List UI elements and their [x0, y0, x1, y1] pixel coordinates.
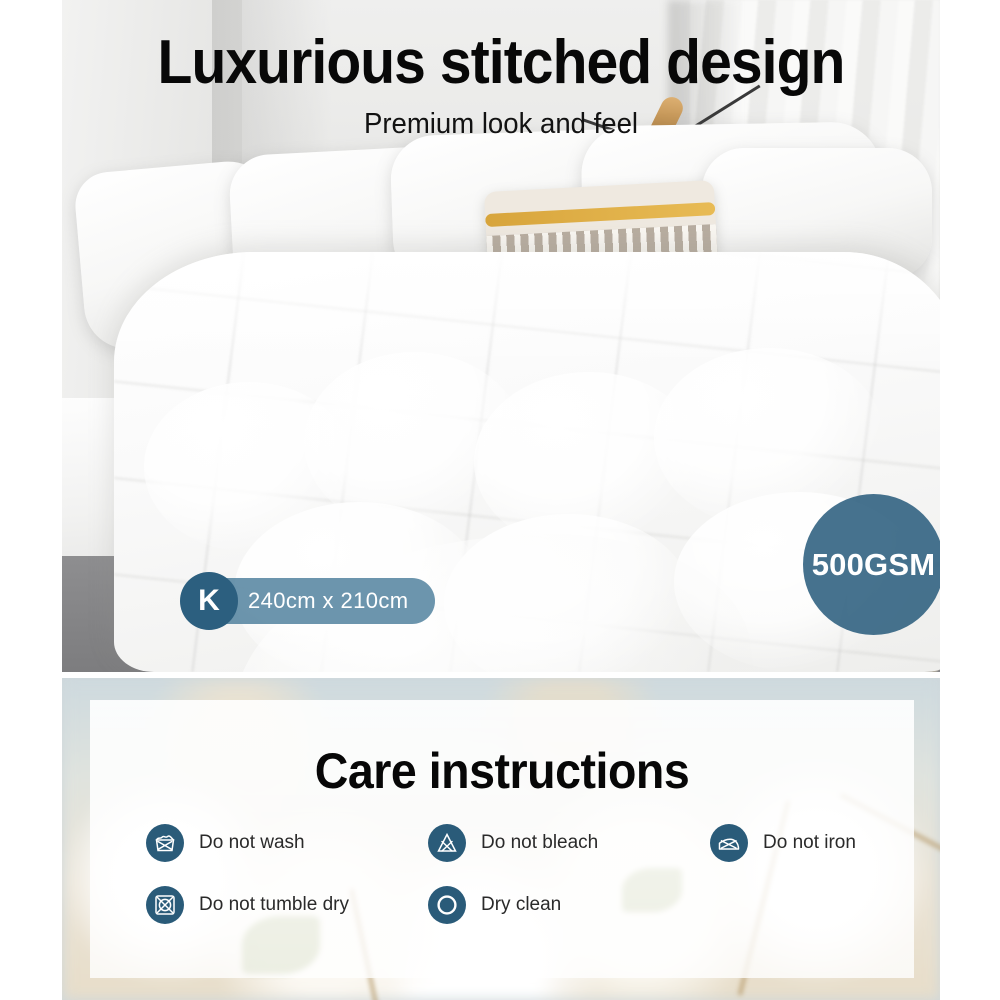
care-panel: Care instructions Do not wash	[62, 678, 940, 1000]
care-row: Do not wash Do not bleach	[146, 824, 902, 862]
care-title: Care instructions	[119, 746, 885, 796]
do-not-bleach-icon	[428, 824, 466, 862]
size-dimensions-label: 240cm x 210cm	[248, 588, 409, 614]
do-not-tumble-dry-icon	[146, 886, 184, 924]
page-title: Luxurious stitched design	[97, 32, 905, 94]
care-label: Dry clean	[481, 894, 561, 916]
product-marketing-image: Luxurious stitched design Premium look a…	[0, 0, 1000, 1000]
care-item-do-not-wash: Do not wash	[146, 824, 428, 862]
page-subtitle: Premium look and feel	[84, 108, 918, 141]
care-instructions-grid: Do not wash Do not bleach	[146, 824, 902, 948]
care-label: Do not bleach	[481, 832, 598, 854]
size-letter-badge: K	[180, 572, 238, 630]
hero-panel: Luxurious stitched design Premium look a…	[62, 0, 940, 672]
care-label: Do not iron	[763, 832, 856, 854]
gsm-badge: 500GSM	[803, 494, 940, 635]
care-item-do-not-iron: Do not iron	[710, 824, 900, 862]
care-item-do-not-tumble-dry: Do not tumble dry	[146, 886, 428, 924]
duvet-top-edge	[114, 252, 940, 372]
dry-clean-icon	[428, 886, 466, 924]
care-item-dry-clean: Dry clean	[428, 886, 710, 924]
do-not-iron-icon	[710, 824, 748, 862]
do-not-wash-icon	[146, 824, 184, 862]
care-card: Care instructions Do not wash	[90, 700, 914, 978]
cushion-gold-band	[485, 202, 715, 227]
care-label: Do not tumble dry	[199, 894, 349, 916]
care-row: Do not tumble dry Dry clean	[146, 886, 902, 924]
care-item-do-not-bleach: Do not bleach	[428, 824, 710, 862]
care-label: Do not wash	[199, 832, 305, 854]
